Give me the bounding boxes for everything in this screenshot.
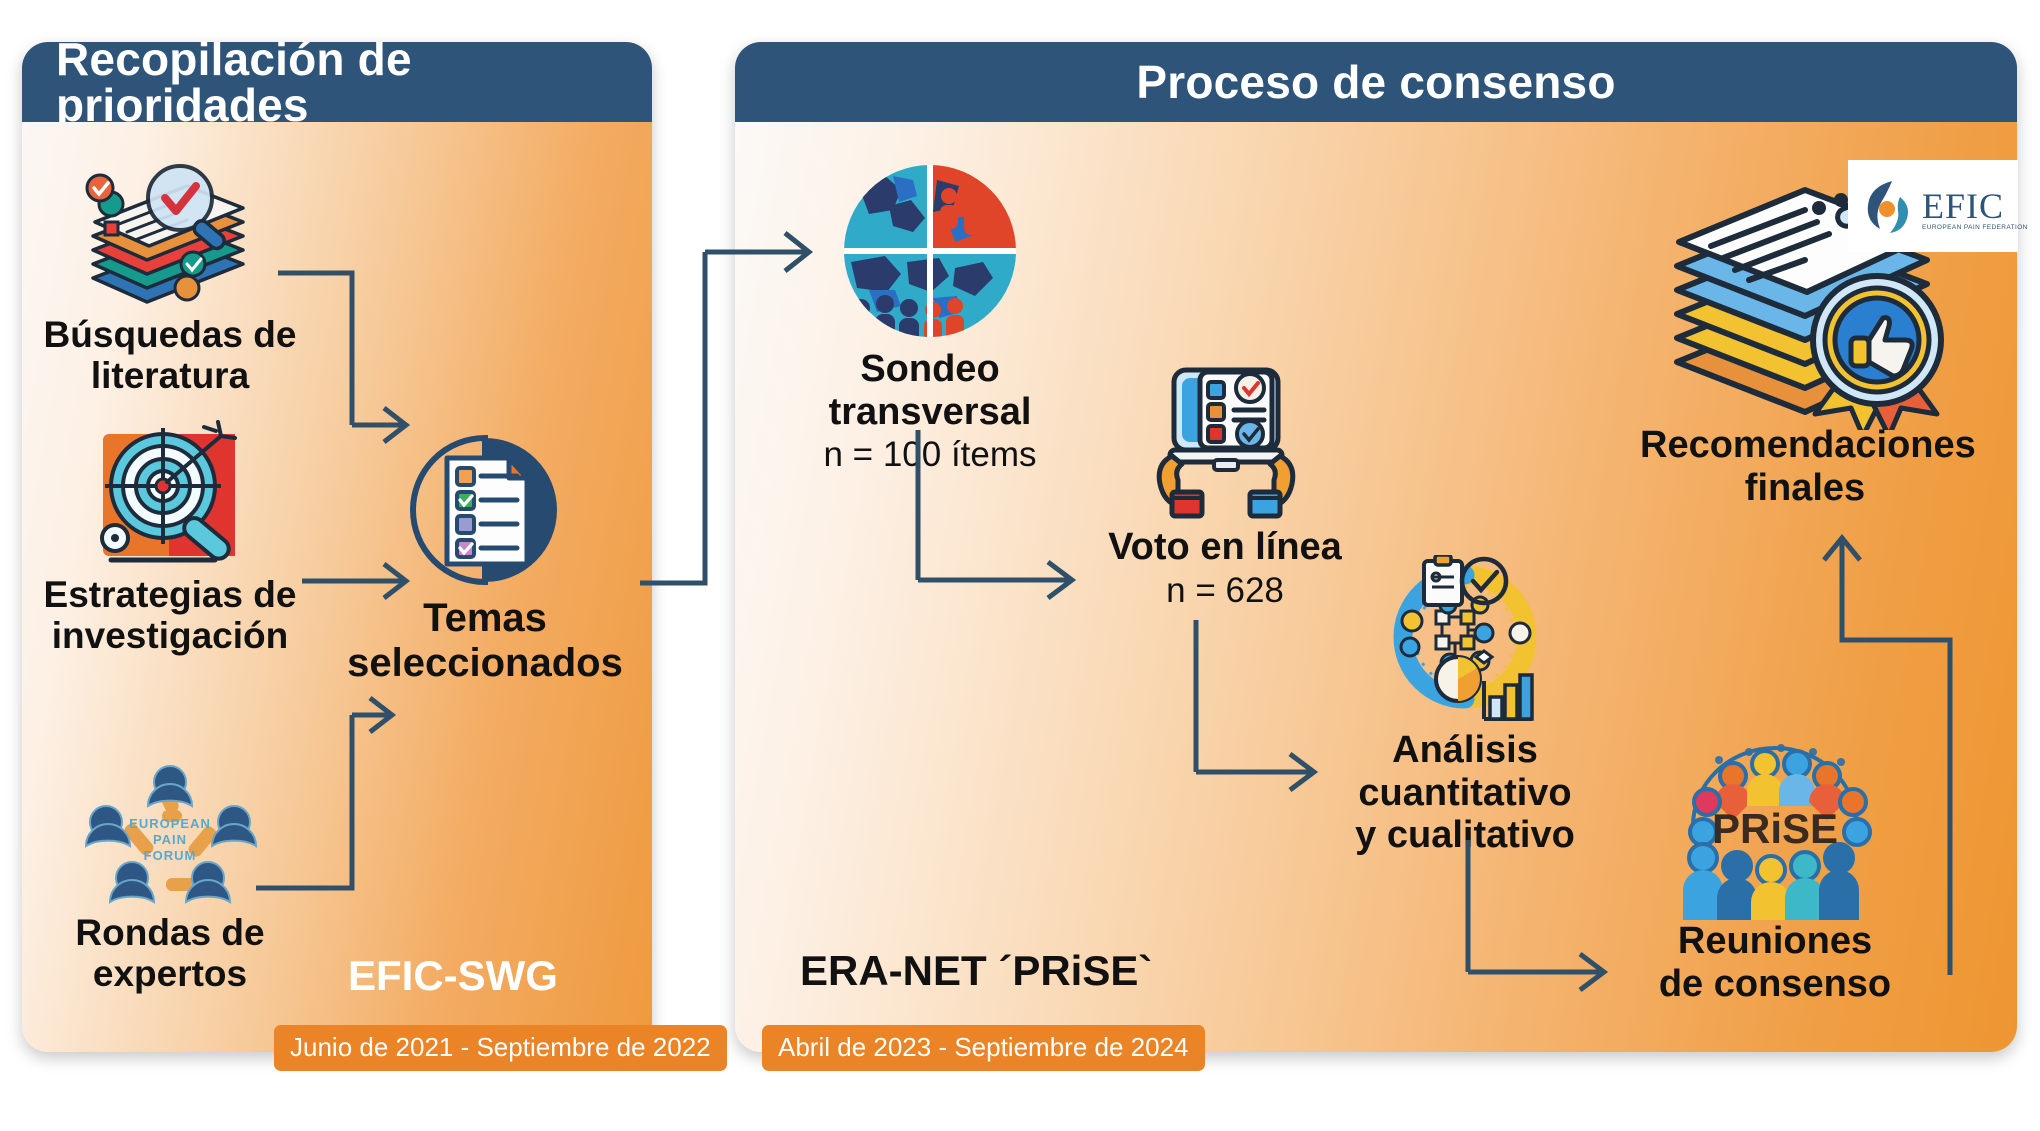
node-expert-rounds-label: Rondas de expertos [40, 912, 300, 995]
node-consensus-meetings: PRiSE Reuniones de consenso [1630, 740, 1920, 1005]
node-selected-topics-label: Temas seleccionados [340, 596, 630, 686]
node-research-strategies-label: Estrategias de investigación [40, 574, 300, 657]
diagram-canvas: Recopilación de prioridades Proceso de c… [0, 0, 2040, 1131]
hands-tablet-ballot-icon [1150, 360, 1300, 520]
node-selected-topics: Temas seleccionados [340, 430, 630, 686]
date-badge-right: Abril de 2023 - Septiembre de 2024 [762, 1025, 1205, 1071]
node-expert-rounds: EUROPEAN PAIN FORUM Rondas de expertos [40, 760, 300, 995]
node-research-strategies: Estrategias de investigación [40, 420, 300, 657]
node-final-recommendations-label: Recomendaciones finales [1640, 424, 1970, 509]
efic-logo-subtitle: EUROPEAN PAIN FEDERATION [1922, 224, 2028, 231]
epf-logo-line2: PAIN [153, 832, 187, 847]
epf-logo-line3: FORUM [144, 848, 197, 863]
node-literature-searches: Búsquedas de literatura [40, 160, 300, 397]
efic-swoosh-icon [1862, 177, 1916, 235]
node-quantitative-qualitative-analysis: Análisis cuantitativo y cualitativo [1320, 555, 1610, 857]
node-cross-sectional-survey-sub: n = 100 ítems [790, 435, 1070, 475]
org-tag-efic-swg: EFIC-SWG [348, 955, 558, 997]
target-magnifier-icon [75, 420, 265, 570]
panel-left-header: Recopilación de prioridades [22, 42, 652, 122]
epf-logo-line1: EUROPEAN [129, 816, 211, 831]
data-analysis-circle-icon [1380, 555, 1550, 725]
european-pain-forum-icon: EUROPEAN PAIN FORUM [70, 760, 270, 910]
efic-logo: EFIC EUROPEAN PAIN FEDERATION [1848, 160, 2018, 252]
node-quantitative-qualitative-analysis-label: Análisis cuantitativo y cualitativo [1320, 729, 1610, 857]
prise-people-circle-icon: PRiSE [1675, 740, 1875, 920]
panel-left-title: Recopilación de prioridades [56, 42, 652, 128]
node-literature-searches-label: Búsquedas de literatura [40, 314, 300, 397]
node-cross-sectional-survey: Sondeo transversal n = 100 ítems [790, 158, 1070, 475]
prise-logo-word: PRiSE [1712, 805, 1838, 852]
date-badge-left: Junio de 2021 - Septiembre de 2022 [274, 1025, 727, 1071]
stacked-documents-magnifier-icon [75, 160, 265, 310]
org-tag-era-net-prise: ERA-NET ´PRiSE` [800, 950, 1152, 992]
node-consensus-meetings-label: Reuniones de consenso [1630, 920, 1920, 1005]
node-cross-sectional-survey-label: Sondeo transversal [790, 348, 1070, 433]
globe-people-survey-icon [837, 158, 1023, 344]
checklist-document-icon [405, 430, 565, 590]
panel-right-header: Proceso de consenso [735, 42, 2017, 122]
panel-right-title: Proceso de consenso [1136, 59, 1615, 105]
efic-logo-word: EFIC [1922, 188, 2004, 224]
